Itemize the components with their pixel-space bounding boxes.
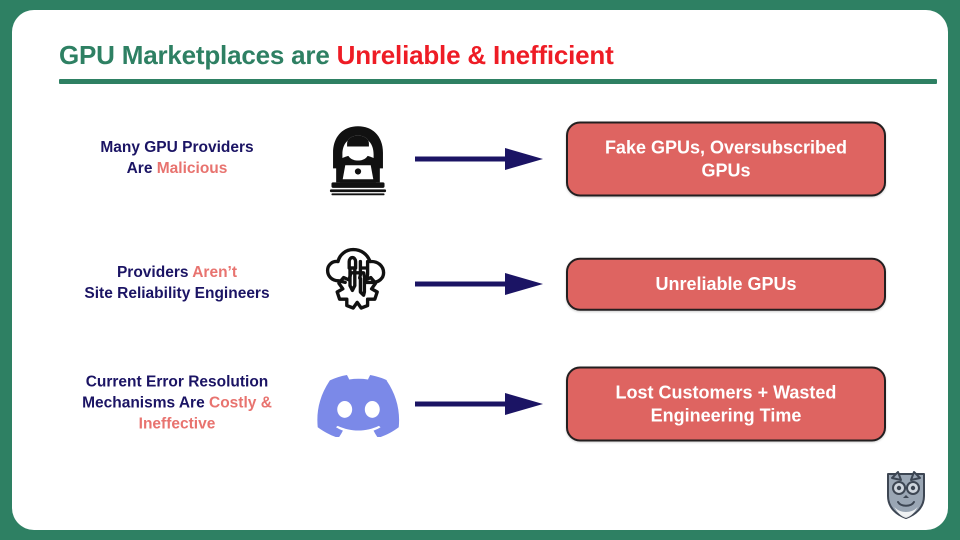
cause-icon-container (310, 238, 406, 330)
cause-segment: Mechanisms Are (82, 395, 209, 412)
outcome-box: Unreliable GPUs (566, 258, 886, 311)
raccoon-shield-logo (882, 468, 930, 520)
cause-line: Are Malicious (52, 159, 302, 180)
page-title-emphasis: Unreliable & Inefficient (337, 40, 614, 70)
cause-effect-row: Many GPU Providers Are Malicious (12, 113, 948, 205)
cause-line: Current Error Resolution (52, 373, 302, 394)
devops-gear-cloud-icon (318, 244, 398, 324)
cause-line: Site Reliability Engineers (52, 284, 302, 305)
cause-segment: Current Error Resolution (86, 374, 269, 391)
cause-segment-highlight: Ineffective (139, 415, 216, 432)
cause-effect-row: Current Error Resolution Mechanisms Are … (12, 358, 948, 450)
page-title-lead: GPU Marketplaces are (59, 40, 337, 70)
cause-segment-highlight: Aren’t (192, 264, 237, 281)
cause-line: Ineffective (52, 414, 302, 435)
flow-arrow-container (404, 113, 554, 205)
cause-label: Providers Aren’t Site Reliability Engine… (52, 263, 302, 305)
cause-segment-highlight: Costly & (209, 395, 272, 412)
cause-line: Providers Aren’t (52, 263, 302, 284)
flow-arrow-container (404, 358, 554, 450)
discord-logo-icon (316, 371, 400, 437)
cause-segment: Many GPU Providers (100, 139, 253, 156)
cause-segment: Providers (117, 264, 192, 281)
cause-label: Many GPU Providers Are Malicious (52, 138, 302, 180)
cause-icon-container (310, 113, 406, 205)
outcome-box: Fake GPUs, Oversubscribed GPUs (566, 122, 886, 197)
arrow-right-icon (413, 389, 545, 419)
cause-segment: Site Reliability Engineers (84, 285, 269, 302)
cause-line: Many GPU Providers (52, 138, 302, 159)
title-underline-rule (59, 79, 937, 84)
brand-logo (882, 468, 930, 520)
cause-segment-highlight: Malicious (157, 160, 228, 177)
cause-effect-row: Providers Aren’t Site Reliability Engine… (12, 238, 948, 330)
flow-arrow-container (404, 238, 554, 330)
arrow-right-icon (413, 269, 545, 299)
page-title: GPU Marketplaces are Unreliable & Ineffi… (59, 40, 614, 71)
cause-icon-container (310, 358, 406, 450)
slide-frame: GPU Marketplaces are Unreliable & Ineffi… (0, 0, 960, 540)
cause-label: Current Error Resolution Mechanisms Are … (52, 373, 302, 436)
slide-canvas: GPU Marketplaces are Unreliable & Ineffi… (12, 10, 948, 530)
hacker-icon (319, 120, 397, 198)
cause-segment: Are (127, 160, 157, 177)
outcome-box: Lost Customers + Wasted Engineering Time (566, 367, 886, 442)
arrow-right-icon (413, 144, 545, 174)
cause-line: Mechanisms Are Costly & (52, 394, 302, 415)
